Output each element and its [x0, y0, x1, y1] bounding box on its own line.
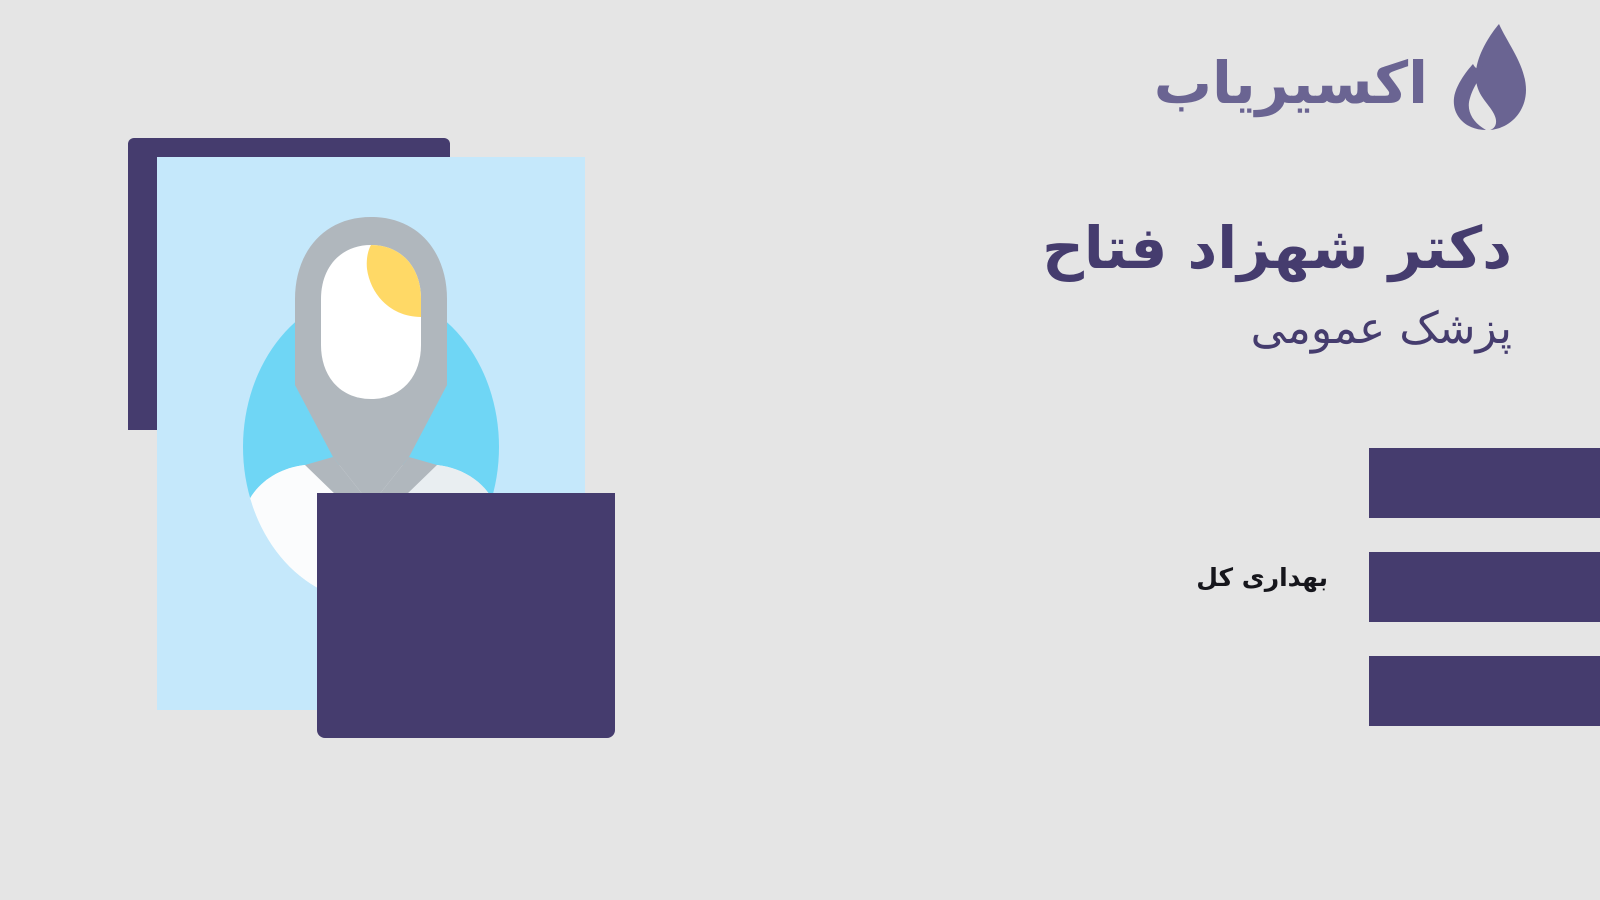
doctor-title-block: دکتر شهزاد فتاح پزشک عمومی	[792, 215, 1512, 357]
decorative-bar-2	[1369, 552, 1600, 622]
decorative-bar-3	[1369, 656, 1600, 726]
brand-wordmark: اکسیریاب	[1154, 54, 1428, 112]
doctor-specialty-label: پزشک عمومی	[792, 300, 1512, 357]
doctor-photo-artwork	[0, 0, 700, 900]
profile-card-canvas: اکسیریاب	[0, 0, 1600, 900]
flame-drop-icon	[1442, 22, 1528, 132]
decorative-bar-1	[1369, 448, 1600, 518]
decorative-frame-front	[317, 493, 615, 738]
department-label: بهداری کل	[1196, 563, 1328, 592]
brand-logo[interactable]: اکسیریاب	[1154, 22, 1528, 132]
page-title: دکتر شهزاد فتاح	[792, 215, 1512, 282]
